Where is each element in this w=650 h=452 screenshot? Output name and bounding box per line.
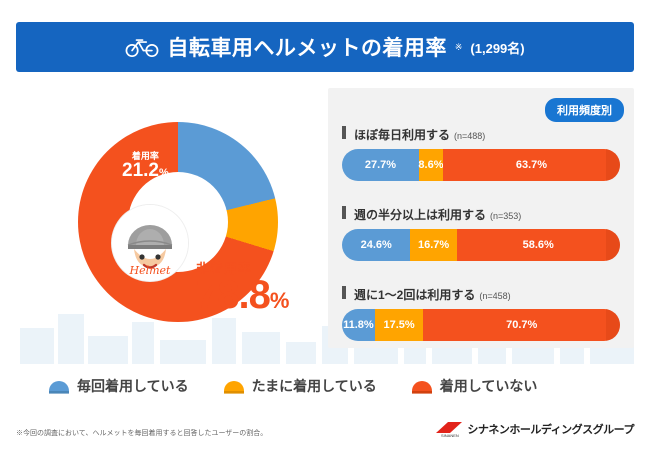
stacked-bar-1: 27.7% 8.6% 63.7% [342, 149, 620, 181]
bar-2-seg-never: 58.6% [457, 229, 620, 261]
group-tick-icon [342, 126, 346, 139]
wear-rate-unit: % [159, 167, 169, 179]
footnote: ※今回の調査において、ヘルメットを毎回着用すると回答したユーザーの割合。 [16, 428, 267, 438]
legend-label-always: 毎回着用している [77, 376, 189, 396]
bar-1-end-cap [606, 149, 620, 181]
legend-label-sometimes: たまに着用している [252, 376, 377, 396]
nonwear-rate-value: 78.8 [196, 273, 270, 317]
bar-3-seg-sometimes: 17.5% [375, 309, 424, 341]
sample-size: (1,299名) [470, 38, 524, 57]
bar-2-seg-always: 24.6% [342, 229, 410, 261]
frequency-group-2: 週の半分以上は利用する (n=353) 24.6% 16.7% 58.6% [342, 206, 620, 261]
bar-3-seg-always: 11.8% [342, 309, 375, 341]
group-3-name: 週に1～2回は利用する [354, 286, 475, 303]
bicycle-icon [125, 36, 159, 58]
helmet-script-text: Helmet [118, 264, 182, 277]
bar-3-seg-never: 70.7% [423, 309, 620, 341]
bar-1-seg-always: 27.7% [342, 149, 419, 181]
frequency-group-1: ほぼ毎日利用する (n=488) 27.7% 8.6% 63.7% [342, 126, 620, 181]
group-1-n: (n=488) [454, 131, 485, 141]
legend: 毎回着用している たまに着用している 着用していない [48, 376, 608, 396]
header-banner: 自転車用ヘルメットの着用率 ※ (1,299名) [16, 22, 634, 72]
svg-text:SINANEN: SINANEN [441, 433, 459, 438]
page-title: 自転車用ヘルメットの着用率 [167, 32, 447, 62]
legend-item-never: 着用していない [411, 376, 538, 396]
bar-3-end-cap [606, 309, 620, 341]
nonwear-rate-unit: % [270, 288, 289, 313]
group-2-name: 週の半分以上は利用する [354, 206, 486, 223]
legend-item-always: 毎回着用している [48, 376, 189, 396]
stacked-bar-3: 11.8% 17.5% 70.7% [342, 309, 620, 341]
wear-rate-label: 着用率 21.2% [122, 152, 169, 181]
bar-1-seg-sometimes: 8.6% [419, 149, 443, 181]
red-helmet-icon [411, 378, 433, 394]
group-tick-icon [342, 286, 346, 299]
wear-rate-value: 21.2 [122, 160, 159, 181]
frequency-badge: 利用頻度別 [545, 98, 624, 122]
frequency-panel: 利用頻度別 ほぼ毎日利用する (n=488) 27.7% 8.6% 63.7% … [328, 88, 634, 348]
group-3-n: (n=458) [479, 291, 510, 301]
bar-2-seg-sometimes: 16.7% [410, 229, 456, 261]
company-name: シナネンホールディングスグループ [467, 421, 634, 437]
legend-label-never: 着用していない [440, 376, 538, 396]
nonwear-rate-label: 非着用率 78.8% [196, 262, 288, 315]
group-2-n: (n=353) [490, 211, 521, 221]
bar-2-end-cap [606, 229, 620, 261]
orange-helmet-icon [223, 378, 245, 394]
blue-helmet-icon [48, 378, 70, 394]
legend-item-sometimes: たまに着用している [223, 376, 377, 396]
stacked-bar-2: 24.6% 16.7% 58.6% [342, 229, 620, 261]
company-logo: SINANEN シナネンホールディングスグループ [436, 420, 634, 438]
group-1-name: ほぼ毎日利用する [354, 126, 450, 143]
poster-root: 自転車用ヘルメットの着用率 ※ (1,299名) 着用率 21.2% 非着用率 … [0, 0, 650, 452]
title-asterisk: ※ [455, 42, 463, 53]
group-tick-icon [342, 206, 346, 219]
bar-1-seg-never: 63.7% [443, 149, 620, 181]
frequency-group-3: 週に1～2回は利用する (n=458) 11.8% 17.5% 70.7% [342, 286, 620, 341]
shinanen-logo-mark-icon: SINANEN [436, 420, 462, 438]
